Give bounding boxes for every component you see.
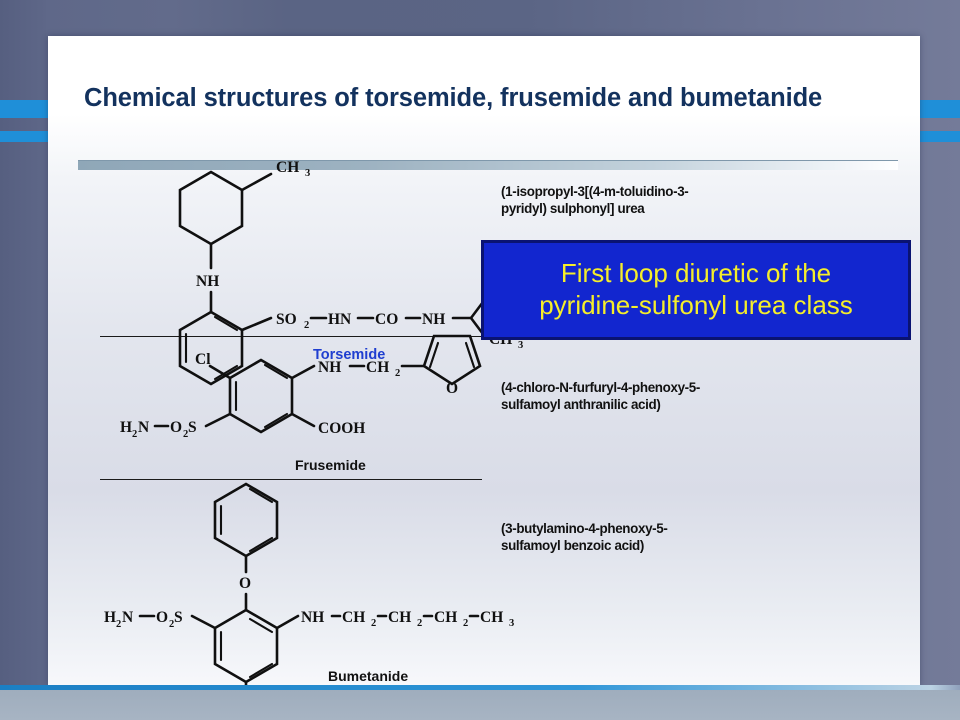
iupac-torsemide-line-2: pyridyl) sulphonyl] urea	[501, 201, 644, 216]
molecule-name-frusemide: Frusemide	[295, 457, 366, 473]
structure-bumetanide: O H 2 N O 2 S NH CH 2 CH 2	[60, 476, 500, 706]
bottom-gray-band	[0, 690, 960, 720]
iupac-name-torsemide: (1-isopropyl-3[(4-m-toluidino-3- pyridyl…	[501, 184, 801, 218]
atom-label-nh-urea: NH	[422, 311, 445, 328]
svg-text:2: 2	[463, 618, 468, 629]
accent-stripe-left-thick	[0, 100, 52, 118]
callout-line-2: pyridine-sulfonyl urea class	[539, 290, 853, 320]
svg-text:S: S	[174, 609, 183, 626]
atom-label-ch2-c: CH	[434, 609, 457, 626]
callout-box: First loop diuretic of the pyridine-sulf…	[481, 240, 911, 340]
callout-line-1: First loop diuretic of the	[561, 258, 831, 288]
iupac-torsemide-line-1: (1-isopropyl-3[(4-m-toluidino-3-	[501, 184, 688, 199]
atom-label-ch3-top: CH	[276, 159, 299, 176]
atom-label-hn: HN	[328, 311, 351, 328]
iupac-frusemide-line-1: (4-chloro-N-furfuryl-4-phenoxy-5-	[501, 380, 700, 395]
slide-panel: Chemical structures of torsemide, frusem…	[48, 36, 920, 686]
atom-label-sulfamoyl-h2n: H	[120, 419, 132, 436]
atom-label-ch2-frusemide: CH	[366, 359, 389, 376]
atom-label-nh-bumetanide: NH	[301, 609, 324, 626]
svg-text:2: 2	[395, 368, 400, 379]
page-title: Chemical structures of torsemide, frusem…	[84, 84, 914, 113]
atom-label-sulfamoyl-o2s: O	[170, 419, 182, 436]
svg-text:S: S	[188, 419, 197, 436]
callout-text: First loop diuretic of the pyridine-sulf…	[531, 258, 861, 321]
svg-text:3: 3	[518, 340, 523, 351]
accent-stripe-left-thin	[0, 131, 52, 142]
svg-text:2: 2	[132, 429, 137, 440]
svg-text:2: 2	[304, 320, 309, 331]
molecule-name-bumetanide: Bumetanide	[328, 668, 408, 684]
accent-stripe-right-thin	[916, 131, 960, 142]
atom-label-sulfamoyl-o2s-bumetanide: O	[156, 609, 168, 626]
iupac-bumetanide-line-1: (3-butylamino-4-phenoxy-5-	[501, 521, 667, 536]
svg-text:2: 2	[417, 618, 422, 629]
atom-label-ch3-bumetanide: CH	[480, 609, 503, 626]
svg-text:3: 3	[509, 618, 514, 629]
structure-frusemide: Cl H 2 N O 2 S NH CH 2 O COOH	[80, 336, 500, 476]
accent-stripe-right-thick	[916, 100, 960, 118]
atom-label-cl: Cl	[195, 351, 211, 368]
svg-text:N: N	[138, 419, 149, 436]
iupac-name-frusemide: (4-chloro-N-furfuryl-4-phenoxy-5- sulfam…	[501, 380, 801, 414]
atom-label-furan-oxygen: O	[446, 380, 458, 397]
atom-label-sulfamoyl-h2n-bumetanide: H	[104, 609, 116, 626]
atom-label-so2: SO	[276, 311, 297, 328]
atom-label-ch2-b: CH	[388, 609, 411, 626]
svg-text:2: 2	[116, 619, 121, 630]
svg-text:2: 2	[371, 618, 376, 629]
iupac-name-bumetanide: (3-butylamino-4-phenoxy-5- sulfamoyl ben…	[501, 521, 801, 555]
iupac-frusemide-line-2: sulfamoyl anthranilic acid)	[501, 397, 660, 412]
svg-text:N: N	[122, 609, 133, 626]
atom-label-ether-oxygen: O	[239, 575, 251, 592]
atom-label-nh-aniline: NH	[196, 273, 219, 290]
atom-label-nh-frusemide: NH	[318, 359, 341, 376]
structure-torsemide: CH 3 NH SO 2 HN CO NH	[108, 146, 508, 361]
atom-label-co: CO	[375, 311, 398, 328]
atom-label-cooh-frusemide: COOH	[318, 420, 365, 437]
svg-text:3: 3	[305, 168, 310, 179]
iupac-bumetanide-line-2: sulfamoyl benzoic acid)	[501, 538, 644, 553]
atom-label-ch2-a: CH	[342, 609, 365, 626]
